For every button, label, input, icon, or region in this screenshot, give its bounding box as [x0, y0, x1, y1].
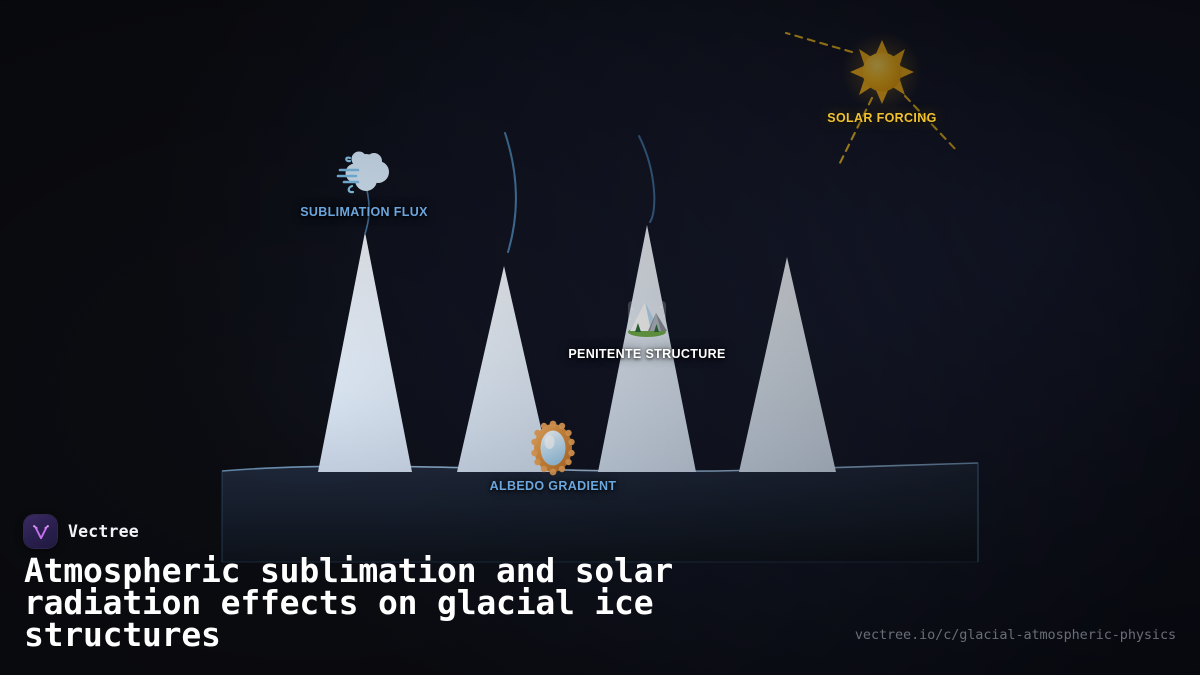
snow-capped-mountain-icon: [628, 301, 667, 337]
ice-spike-4: [739, 257, 836, 472]
label-penitente-structure: PENITENTE STRUCTURE: [568, 347, 725, 361]
page-title: Atmospheric sublimation and solar radiat…: [24, 555, 784, 651]
wind-cloud-icon: [338, 152, 389, 193]
label-solar-forcing: SOLAR FORCING: [827, 111, 936, 125]
sun-icon: [842, 32, 922, 112]
ice-spike-1: [318, 232, 412, 472]
label-sublimation-flux: SUBLIMATION FLUX: [300, 205, 428, 219]
brand-name: Vectree: [68, 522, 139, 541]
footer: Vectree Atmospheric sublimation and sola…: [0, 503, 1200, 675]
source-url: vectree.io/c/glacial-atmospheric-physics: [855, 627, 1176, 643]
brand: Vectree: [24, 515, 139, 548]
vectree-v-logo-icon: [24, 515, 57, 548]
vapor-arc-right: [639, 136, 654, 222]
vapor-arc-left: [505, 133, 516, 252]
label-albedo-gradient: ALBEDO GRADIENT: [490, 479, 617, 493]
